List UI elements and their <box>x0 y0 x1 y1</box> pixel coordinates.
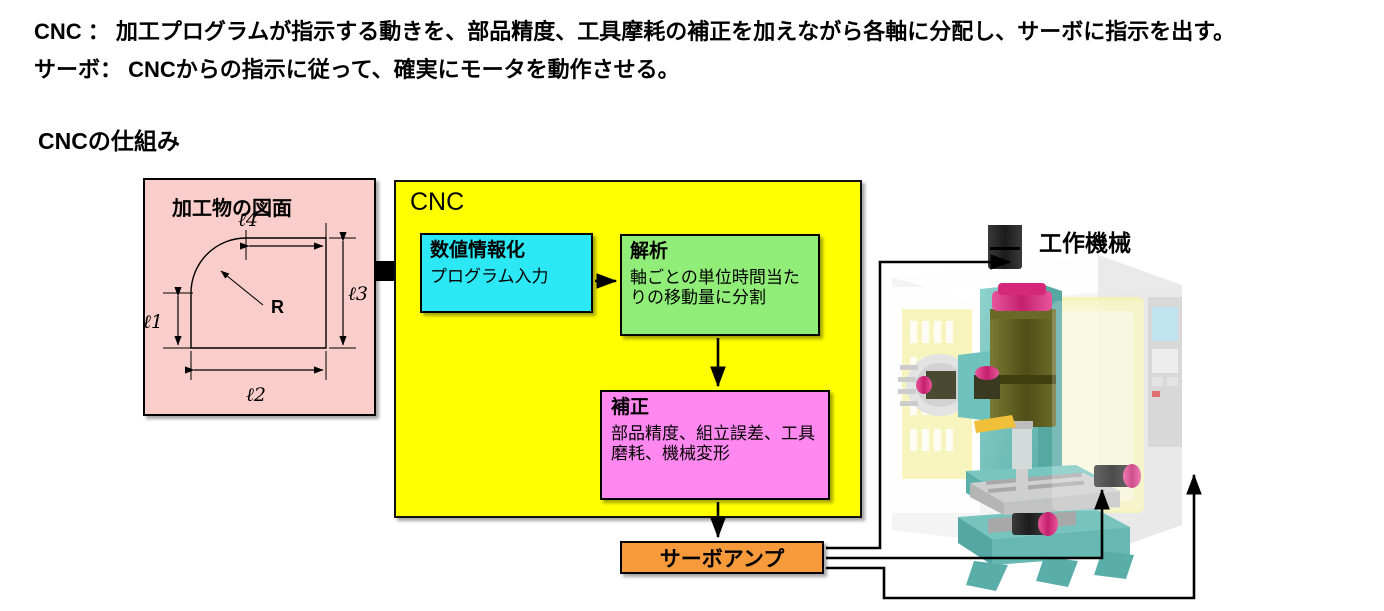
block-numeric-conversion-title: 数値情報化 <box>430 241 583 262</box>
header-line-1: CNC ： 加工プログラムが指示する動きを、部品精度、工具摩耗の補正を加えながら… <box>34 14 1235 46</box>
column-small-motor <box>974 366 1000 399</box>
section-title: CNCの仕組み <box>38 122 180 156</box>
block-numeric-conversion: 数値情報化 プログラム入力 <box>420 233 593 313</box>
enclosure-door-glass <box>1052 301 1144 511</box>
operator-control-panel <box>1148 297 1182 447</box>
dim-label-l2: ℓ2 <box>246 384 266 406</box>
dim-label-l3: ℓ3 <box>348 283 368 305</box>
servo-amplifier-label: サーボアンプ <box>660 543 785 573</box>
dim-label-l4: ℓ4 <box>238 209 258 231</box>
machine-tool-illustration <box>862 225 1192 600</box>
block-compensation-body: 部品精度、組立誤差、工具磨耗、機械変形 <box>611 424 819 464</box>
cnc-label: CNC <box>410 188 464 217</box>
block-analysis: 解析 軸ごとの単位時間当たりの移動量に分割 <box>620 234 820 336</box>
servo-amplifier-box: サーボアンプ <box>620 541 824 574</box>
servo-motor-z-axis <box>986 225 1024 269</box>
dim-label-l1: ℓ1 <box>143 311 163 333</box>
diagram-canvas: CNC ： 加工プログラムが指示する動きを、部品精度、工具摩耗の補正を加えながら… <box>0 0 1384 611</box>
block-analysis-title: 解析 <box>630 242 810 263</box>
block-compensation: 補正 部品精度、組立誤差、工具磨耗、機械変形 <box>600 390 830 500</box>
servo-motor-y-axis <box>1012 512 1058 536</box>
block-compensation-title: 補正 <box>611 398 819 419</box>
workpiece-drawing-figure: ℓ4 ℓ3 ℓ1 ℓ2 R <box>143 178 376 416</box>
header-line-2: サーボ： CNCからの指示に従って、確実にモータを動作させる。 <box>34 52 680 84</box>
block-analysis-body: 軸ごとの単位時間当たりの移動量に分割 <box>630 268 810 308</box>
dim-label-radius: R <box>271 297 284 317</box>
block-numeric-conversion-body: プログラム入力 <box>430 267 583 287</box>
